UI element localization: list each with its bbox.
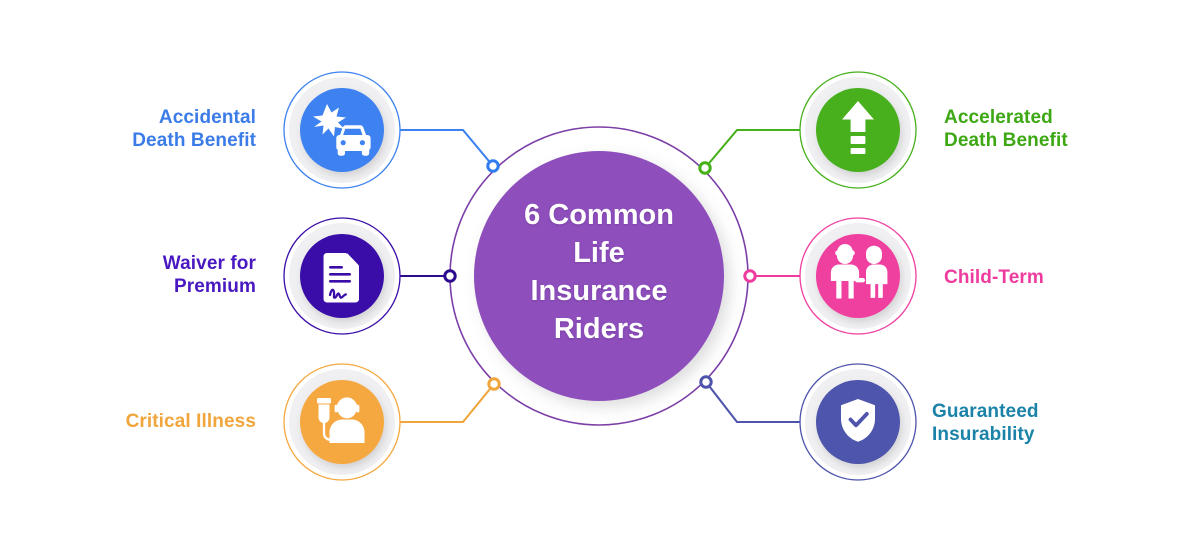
node-guaranteed-insurability[interactable]: [800, 364, 916, 480]
connector-guaranteed-insurability: [706, 382, 800, 422]
connector-accidental-death-benefit: [400, 130, 493, 166]
label-accelerated-death-benefit: Accelerated Death Benefit: [944, 106, 1174, 152]
label-critical-illness: Critical Illness: [40, 410, 256, 433]
label-guaranteed-insurability: Guaranteed Insurability: [932, 400, 1172, 446]
signed-document-icon: [324, 253, 359, 302]
label-accidental-death-benefit: Accidental Death Benefit: [40, 106, 256, 152]
node-accidental-death-benefit[interactable]: [284, 72, 400, 188]
connector-critical-illness: [400, 384, 494, 422]
label-child-term: Child-Term: [944, 266, 1174, 289]
dot-waiver-for-premium: [445, 271, 455, 281]
dot-critical-illness: [489, 379, 499, 389]
label-waiver-for-premium: Waiver for Premium: [40, 252, 256, 298]
dot-accelerated-death-benefit: [700, 163, 710, 173]
dot-child-term: [745, 271, 755, 281]
node-critical-illness[interactable]: [284, 364, 400, 480]
node-accelerated-death-benefit[interactable]: [800, 72, 916, 188]
node-waiver-for-premium[interactable]: [284, 218, 400, 334]
dot-accidental-death-benefit: [488, 161, 498, 171]
center-title: 6 Common Life Insurance Riders: [474, 196, 724, 348]
infographic-canvas: 6 Common Life Insurance Riders Accidenta…: [0, 0, 1200, 552]
node-child-term[interactable]: [800, 218, 916, 334]
dot-guaranteed-insurability: [701, 377, 711, 387]
connector-accelerated-death-benefit: [705, 130, 800, 168]
